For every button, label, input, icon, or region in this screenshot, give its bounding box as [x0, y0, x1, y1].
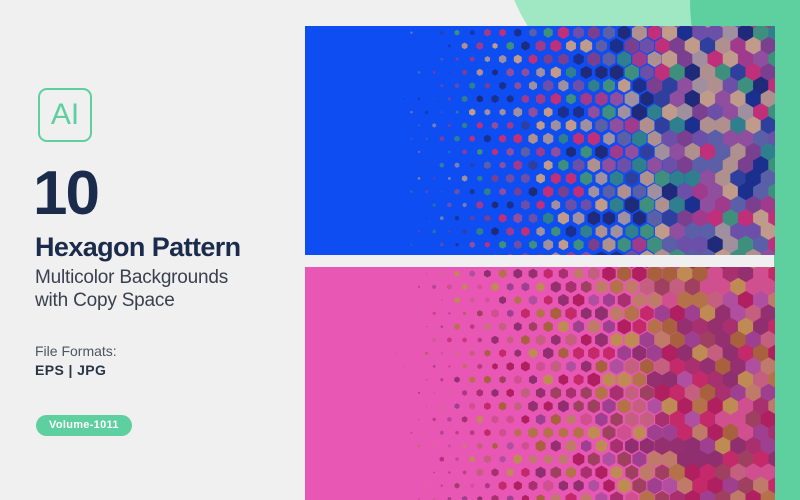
info-column: AI 10 Hexagon Pattern Multicolor Backgro… [0, 0, 300, 500]
subtitle-line-2: with Copy Space [35, 289, 228, 312]
ai-logo-label: AI [51, 100, 79, 130]
blue-hexagon-halftone-art [305, 26, 775, 255]
item-count: 10 [33, 163, 98, 225]
pink-hexagon-halftone-art [305, 267, 775, 500]
file-formats-value: EPS | JPG [35, 362, 106, 378]
poster-canvas: AI 10 Hexagon Pattern Multicolor Backgro… [0, 0, 800, 500]
page-title: Hexagon Pattern [35, 234, 241, 261]
file-formats-label: File Formats: [35, 343, 117, 359]
preview-panel-pink [305, 267, 775, 500]
preview-panel-blue [305, 26, 775, 255]
page-subtitle: Multicolor Backgrounds with Copy Space [35, 266, 228, 313]
volume-badge: Volume-1011 [36, 415, 132, 436]
adobe-illustrator-badge-icon: AI [38, 88, 92, 142]
green-edge-strip [774, 0, 800, 500]
subtitle-line-1: Multicolor Backgrounds [35, 266, 228, 289]
